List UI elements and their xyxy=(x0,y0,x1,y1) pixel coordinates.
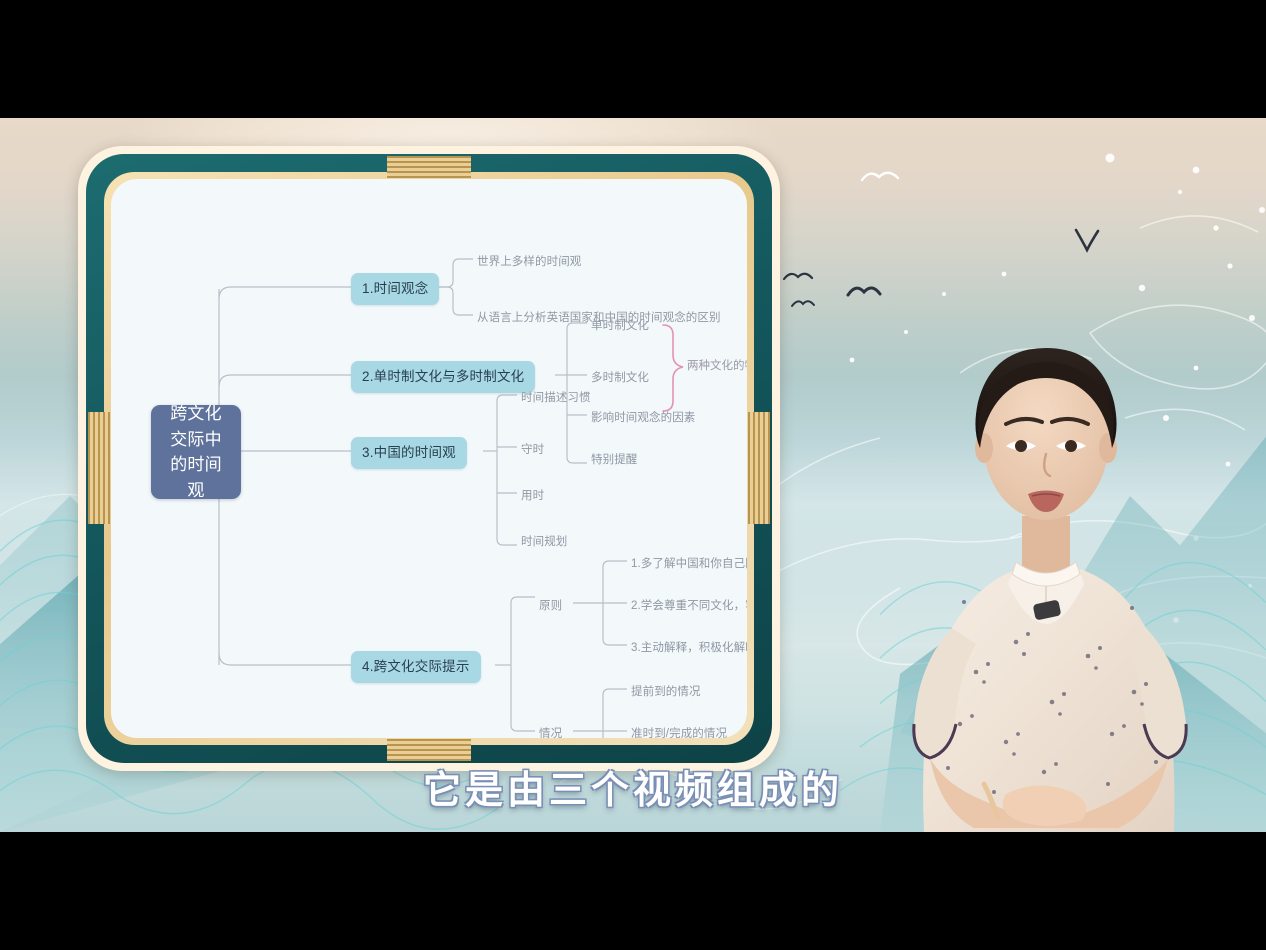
mindmap-canvas: 跨文化交际中的时间观 1.时间观念 2.单时制文化与多时制文化 3.中国的时间观… xyxy=(111,179,747,738)
mindmap-root-node[interactable]: 跨文化交际中的时间观 xyxy=(151,405,241,499)
mindmap-leaf: 3.主动解释，积极化解时间观不同导致的交际冲突 xyxy=(631,639,747,655)
gold-stripe-ornament-right xyxy=(748,412,770,524)
video-frame: 跨文化交际中的时间观 1.时间观念 2.单时制文化与多时制文化 3.中国的时间观… xyxy=(0,118,1266,832)
letterbox-bottom-bar xyxy=(0,832,1266,950)
mindmap-leaf: 守时 xyxy=(521,441,544,457)
bird-icon xyxy=(782,268,814,284)
mindmap-leaf: 用时 xyxy=(521,487,544,503)
mindmap-leaf: 时间描述习惯 xyxy=(521,389,591,405)
mindmap-leaf: 影响时间观念的因素 xyxy=(591,409,695,425)
gold-stripe-ornament-top xyxy=(387,156,471,178)
mindmap-branch-3[interactable]: 3.中国的时间观 xyxy=(351,437,467,469)
gold-stripe-ornament-left xyxy=(88,412,110,524)
gold-stripe-ornament-bottom xyxy=(387,739,471,761)
subtitle-bar: 它是由三个视频组成的 xyxy=(0,759,1266,814)
bird-icon xyxy=(790,296,816,310)
mindmap-branch-1[interactable]: 1.时间观念 xyxy=(351,273,439,305)
mindmap-leaf: 2.学会尊重不同文化，容纳不同的时间观念 xyxy=(631,597,747,613)
mindmap-leaf: 世界上多样的时间观 xyxy=(477,253,581,269)
mindmap-brace-label: 两种文化的特点 xyxy=(687,357,747,373)
bird-icon xyxy=(860,166,900,186)
mindmap-branch-2[interactable]: 2.单时制文化与多时制文化 xyxy=(351,361,535,393)
mindmap-group-label: 情况 xyxy=(539,725,562,738)
letterbox-top-bar xyxy=(0,0,1266,118)
mindmap-card-frame: 跨文化交际中的时间观 1.时间观念 2.单时制文化与多时制文化 3.中国的时间观… xyxy=(78,146,780,771)
mindmap-leaf: 多时制文化 xyxy=(591,369,649,385)
bird-icon xyxy=(1072,226,1102,256)
mindmap-branch-4[interactable]: 4.跨文化交际提示 xyxy=(351,651,481,683)
mindmap-leaf: 特别提醒 xyxy=(591,451,637,467)
subtitle-text: 它是由三个视频组成的 xyxy=(423,768,843,812)
mindmap-leaf: 时间规划 xyxy=(521,533,567,549)
mindmap-leaf: 单时制文化 xyxy=(591,317,649,333)
mindmap-group-label: 原则 xyxy=(539,597,562,613)
mindmap-leaf: 准时到/完成的情况 xyxy=(631,725,727,738)
mindmap-leaf: 提前到的情况 xyxy=(631,683,701,699)
mindmap-leaf: 1.多了解中国和你自己国家的时间观念差异 xyxy=(631,555,747,571)
mindmap: 跨文化交际中的时间观 1.时间观念 2.单时制文化与多时制文化 3.中国的时间观… xyxy=(111,179,747,738)
presenter-figure xyxy=(856,272,1236,832)
